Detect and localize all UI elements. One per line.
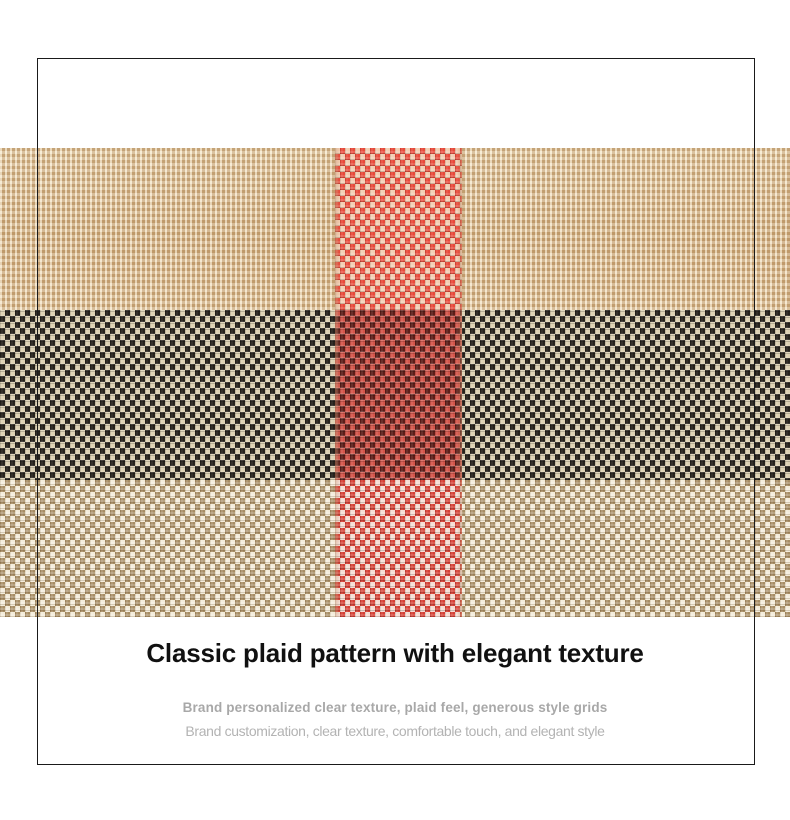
weave-texture-overlay (335, 148, 462, 310)
fabric-red-stripe (335, 148, 462, 617)
plaid-fabric-swatch (0, 148, 790, 617)
product-image-card: Classic plaid pattern with elegant textu… (0, 0, 790, 820)
red-stripe-segment-bottom (335, 480, 462, 617)
caption-block: Classic plaid pattern with elegant textu… (0, 636, 790, 741)
red-stripe-segment-top (335, 148, 462, 310)
subtitle-primary: Brand personalized clear texture, plaid … (0, 698, 790, 718)
subtitle-secondary: Brand customization, clear texture, comf… (0, 721, 790, 741)
page-title: Classic plaid pattern with elegant textu… (0, 636, 790, 670)
weave-texture-overlay (335, 310, 462, 480)
weave-texture-overlay (335, 480, 462, 617)
red-stripe-segment-mid (335, 310, 462, 480)
